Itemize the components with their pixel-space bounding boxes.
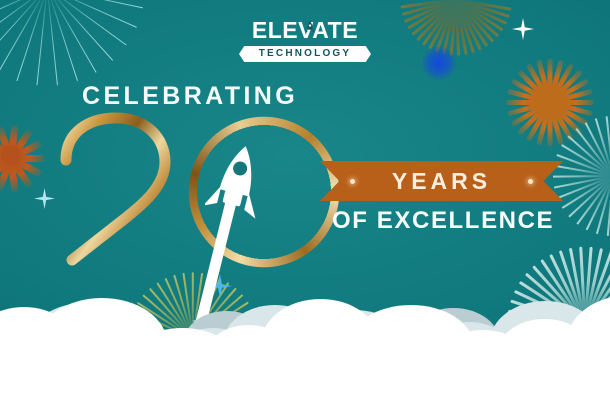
logo-tagline-ribbon: TECHNOLOGY (239, 46, 371, 62)
logo-tagline: TECHNOLOGY (239, 48, 371, 59)
burst-topleft-decoration (0, 0, 152, 92)
bullet-dot-icon-right (528, 179, 533, 184)
anniversary-numeral (50, 104, 320, 284)
rocket-icon (205, 143, 267, 227)
brand-logo[interactable]: ELEVATE TECHNOLOGY (239, 17, 371, 63)
anniversary-banner: ELEVATE TECHNOLOGY CELEBRATING (0, 0, 610, 407)
burst-orange-left-decoration (0, 118, 48, 192)
rocket-icon (305, 20, 315, 37)
years-ribbon: YEARS (320, 161, 563, 201)
sparkle-white-top-right-icon (512, 18, 534, 40)
ribbon-label: YEARS (392, 168, 491, 195)
cloud-layer-front (0, 351, 610, 407)
bullet-dot-icon-left (350, 179, 355, 184)
burst-topmid-decoration (396, 0, 516, 58)
glow-dot-blue-icon (422, 46, 456, 80)
subheadline-text: OF EXCELLENCE (332, 207, 554, 235)
numeral-digit-2 (58, 112, 180, 276)
